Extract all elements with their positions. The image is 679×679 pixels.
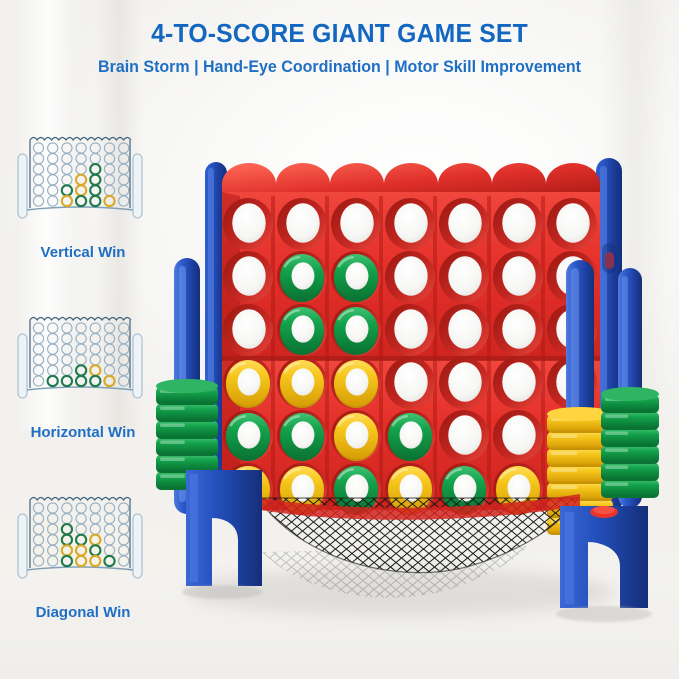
win-card-vertical: Vertical Win [4,116,162,292]
coin-edge [334,362,378,408]
stack-green-coin [601,395,659,411]
yellow-coin [280,466,324,512]
diagram-yellow-token [104,196,114,206]
stack-coin-highlight [160,475,185,479]
yellow-coin [226,466,270,512]
diagram-empty-hole [76,143,86,153]
board-hole-socket [439,357,489,409]
coin-edge [280,468,324,514]
diagram-empty-hole [104,355,114,365]
stack-top-coin [156,379,218,393]
board-empty-hole [502,415,535,455]
stack-yellow-coin [547,483,613,499]
board-hole-socket [493,304,543,356]
diagram-empty-hole [33,323,43,333]
diagram-green-token [76,365,86,375]
board-hole-socket [493,463,543,515]
board-hole-socket [493,410,543,462]
stack-coin-highlight [160,390,185,394]
diagram-empty-hole [33,365,43,375]
diagram-empty-hole [62,143,72,153]
diagram-empty-hole [48,196,58,206]
board-hole-socket [493,198,543,250]
diagram-empty-hole [119,334,129,344]
diagram-empty-hole [33,376,43,386]
coin-edge [226,468,270,514]
diagram-empty-hole [48,164,58,174]
diagram-post-left [18,154,27,218]
board-empty-hole [502,256,535,296]
stack-coin-edge [156,422,218,439]
win-card-horizontal: Horizontal Win [4,296,162,472]
diagram-empty-hole [90,323,100,333]
stack-coin-edge [547,416,613,433]
coin-center-hole [346,262,369,289]
diagram-green-token [90,196,100,206]
coin-center-hole [346,474,369,501]
diagram-empty-hole [119,376,129,386]
horizontal-win-diagram [12,296,154,420]
board-empty-hole [556,415,589,455]
coin-highlight [392,416,407,426]
board-hole-socket [277,463,327,515]
diagram-green-token [90,545,100,555]
diagram-empty-hole [119,535,129,545]
stack-yellow-coin [547,500,613,516]
board-empty-hole [232,203,265,243]
board-empty-hole [394,309,427,349]
board-empty-hole [502,203,535,243]
diagram-empty-hole [104,323,114,333]
diagram-empty-hole [119,355,129,365]
diagram-post-left [18,334,27,398]
coin-highlight [230,363,245,373]
base-leg-left [186,470,262,586]
stack-coin-edge [547,450,613,467]
diagram-post-right [133,334,142,398]
stack-coin-highlight [551,520,577,524]
coin-highlight [338,257,353,267]
board-seam [222,356,600,361]
diagram-empty-hole [90,514,100,524]
coin-edge [388,415,432,461]
diagram-empty-hole [119,514,129,524]
coin-highlight [500,469,515,479]
board-empty-hole [448,415,481,455]
diagram-empty-hole [119,175,129,185]
green-coin [334,307,378,353]
diagram-scalloped-top [30,498,131,501]
diagram-green-token [62,376,72,386]
diagram-empty-hole [48,535,58,545]
coin-edge [442,468,486,514]
frame-post-right-inner [566,260,594,510]
green-coin [388,413,432,459]
board-empty-hole [340,203,373,243]
diagram-post-right [133,514,142,578]
board-empty-hole [556,256,589,296]
red-release-lever [590,506,618,518]
diagram-yellow-token [90,556,100,566]
diagram-empty-hole [104,154,114,164]
board-hole-socket [223,357,273,409]
stack-green-coin [156,438,218,454]
board-empty-hole [556,309,589,349]
stack-coin-edge [547,484,613,501]
board-empty-hole [394,256,427,296]
diagram-empty-hole [33,545,43,555]
coin-center-hole [238,421,261,448]
board-empty-hole [502,309,535,349]
ball-catch-net [250,494,580,598]
coin-center-hole [292,315,315,342]
board-column-dividers [271,196,545,496]
board-empty-hole [556,468,589,508]
coin-edge [280,256,324,302]
stack-green-coin [601,412,659,428]
diagram-green-token [76,196,86,206]
board-empty-hole [502,362,535,402]
win-card-label: Vertical Win [4,244,162,261]
diagram-empty-hole [76,503,86,513]
coin-edge [334,468,378,514]
board-lower-panel [222,360,600,500]
stack-green-coin [156,455,218,471]
diagram-green-token [76,535,86,545]
game-board [222,163,600,515]
diagram-empty-hole [104,143,114,153]
stack-coin-highlight [160,458,185,462]
diagram-empty-hole [62,154,72,164]
board-hole-socket [331,410,381,462]
board-hole-socket [439,410,489,462]
diagram-empty-hole [104,344,114,354]
stack-green-coin [156,404,218,420]
win-card-label: Horizontal Win [4,424,162,441]
diagram-yellow-token [62,196,72,206]
product-image: 4-TO-SCORE GIANT GAME SET Brain Storm | … [0,0,679,679]
board-hole-socket [331,463,381,515]
diagram-green-token [48,376,58,386]
diagram-empty-hole [48,143,58,153]
frame-post-right-outer [618,268,642,508]
frame-post-left [174,258,200,514]
stack-green-coin [156,472,218,488]
diagram-empty-hole [48,175,58,185]
board-hole-socket [547,357,597,409]
diagram-empty-hole [48,514,58,524]
diagram-empty-hole [104,365,114,375]
board-hole-socket [547,304,597,356]
coin-highlight [338,310,353,320]
stack-coin-edge [601,430,659,447]
diagram-empty-hole [48,344,58,354]
stack-coin-highlight [160,424,185,428]
board-hole-socket [439,463,489,515]
coin-center-hole [400,474,423,501]
diagram-empty-hole [76,355,86,365]
board-hole-socket [331,357,381,409]
coin-highlight [230,469,245,479]
stack-coin-highlight [605,449,628,453]
green-coin [280,413,324,459]
green-coin [226,413,270,459]
diagram-yellow-token [76,545,86,555]
diagram-empty-hole [33,524,43,534]
green-coin [280,307,324,353]
coin-center-hole [346,368,369,395]
green-coin [334,466,378,512]
stack-yellow-coin [547,432,613,448]
stack-coin-highlight [551,486,577,490]
stack-green-coin [601,480,659,496]
stack-coin-highlight [605,466,628,470]
stack-coin-edge [156,405,218,422]
red-slider-button [605,252,614,269]
stack-coin-edge [547,467,613,484]
diagram-empty-hole [119,164,129,174]
coin-center-hole [292,474,315,501]
coin-center-hole [292,368,315,395]
coin-highlight [338,363,353,373]
diagram-empty-hole [33,556,43,566]
stack-coin-edge [156,439,218,456]
diagram-empty-hole [33,514,43,524]
board-hole-socket [385,410,435,462]
board-hole-socket [223,198,273,250]
diagram-scalloped-top [30,318,131,321]
stack-green-coin [156,387,218,403]
board-hole-socket [439,304,489,356]
diagram-empty-hole [90,524,100,534]
coin-highlight [284,416,299,426]
frame-rear-uprights [205,158,622,518]
diagram-empty-hole [33,503,43,513]
board-empty-hole [556,362,589,402]
coin-highlight [284,257,299,267]
coin-stacks [156,379,659,535]
diagram-post-left [18,514,27,578]
coin-edge [280,415,324,461]
board-empty-hole [448,203,481,243]
yellow-coin [496,466,540,512]
diagram-post-right [133,154,142,218]
diagram-empty-hole [76,524,86,534]
coin-highlight [338,469,353,479]
coin-edge [334,309,378,355]
diagram-empty-hole [76,514,86,524]
vertical-win-diagram [12,116,154,240]
diagram-empty-hole [104,185,114,195]
win-card-label: Diagonal Win [4,604,162,621]
board-hole-socket [547,251,597,303]
yellow-coin [280,360,324,406]
diagram-empty-hole [119,365,129,375]
coin-highlight [338,416,353,426]
board-hole-socket [385,357,435,409]
board-empty-hole [448,362,481,402]
board-hole-socket [277,410,327,462]
diagram-empty-hole [90,344,100,354]
board-hole-socket [223,251,273,303]
coin-center-hole [292,421,315,448]
green-coin [280,254,324,300]
diagram-empty-hole [48,503,58,513]
board-hole-socket [331,251,381,303]
diagram-empty-hole [62,344,72,354]
board-hole-socket [277,251,327,303]
stack-yellow-coin [547,466,613,482]
board-hole-socket [385,198,435,250]
diagram-empty-hole [104,175,114,185]
board-hole-socket [277,198,327,250]
stack-coin-highlight [551,435,577,439]
header: 4-TO-SCORE GIANT GAME SET Brain Storm | … [0,0,679,77]
coin-edge [226,415,270,461]
diagram-empty-hole [33,143,43,153]
diagram-empty-hole [119,545,129,555]
stack-coin-edge [156,388,218,405]
diagram-yellow-token [90,365,100,375]
diagram-empty-hole [33,334,43,344]
board-empty-hole [232,309,265,349]
diagram-green-token [90,376,100,386]
diagram-empty-hole [62,175,72,185]
board-hole-socket [223,463,273,515]
win-card-diagonal: Diagonal Win [4,476,162,652]
page-title: 4-TO-SCORE GIANT GAME SET [10,20,669,49]
diagram-empty-hole [90,355,100,365]
stack-coin-edge [547,501,613,518]
diagram-yellow-token [76,175,86,185]
diagram-empty-hole [104,524,114,534]
diagram-empty-hole [33,154,43,164]
coin-center-hole [454,474,477,501]
stack-coin-highlight [160,407,185,411]
board-empty-hole [448,309,481,349]
diagram-green-token [62,185,72,195]
board-empty-hole [286,203,319,243]
stack-coin-edge [601,464,659,481]
board-hole-socket [547,463,597,515]
stack-coin-edge [156,456,218,473]
coin-highlight [230,416,245,426]
diagram-green-token [62,524,72,534]
diagram-empty-hole [76,154,86,164]
diagram-empty-hole [76,164,86,174]
diagram-base-bar [26,387,134,390]
diagram-empty-hole [119,143,129,153]
diagram-empty-hole [76,334,86,344]
stack-coin-highlight [605,415,628,419]
diagram-empty-hole [119,196,129,206]
board-empty-hole [448,256,481,296]
board-hole-socket [223,410,273,462]
diagram-yellow-token [62,545,72,555]
board-empty-hole [394,203,427,243]
yellow-coin [226,360,270,406]
coin-edge [334,415,378,461]
diagram-empty-hole [33,344,43,354]
board-hole-socket [439,198,489,250]
board-hole-socket [331,198,381,250]
green-coin [442,466,486,512]
diagram-green-token [62,535,72,545]
diagram-empty-hole [48,365,58,375]
diagram-empty-hole [76,323,86,333]
diagram-empty-hole [33,196,43,206]
diagram-yellow-token [76,185,86,195]
diagram-yellow-token [90,535,100,545]
diagram-empty-hole [48,545,58,555]
board-hole-socket [493,357,543,409]
coin-center-hole [238,368,261,395]
diagram-empty-hole [62,323,72,333]
stack-green-coin [601,446,659,462]
base-leg-right [560,506,648,608]
board-hole-socket [385,251,435,303]
stack-coin-highlight [605,398,628,402]
board-empty-hole [232,256,265,296]
board-bottom-lip [222,496,600,510]
ground-shadow [185,568,615,616]
diagram-empty-hole [119,556,129,566]
stack-coin-highlight [551,452,577,456]
coin-highlight [446,469,461,479]
stack-green-coin [156,421,218,437]
diagram-green-token [90,185,100,195]
stack-yellow-coin [547,449,613,465]
coin-highlight [284,469,299,479]
diagram-yellow-token [104,376,114,386]
diagram-empty-hole [119,185,129,195]
coin-center-hole [292,262,315,289]
coin-highlight [284,310,299,320]
stack-coin-highlight [605,432,628,436]
diagram-empty-hole [90,154,100,164]
diagram-empty-hole [62,355,72,365]
stack-coin-edge [547,433,613,450]
stack-green-coin [601,429,659,445]
diagonal-win-diagram [12,476,154,600]
stack-coin-edge [601,481,659,498]
win-pattern-cards: Vertical Win Horizontal Win Diagonal Win [4,112,162,655]
board-scalloped-top [222,163,600,200]
diagram-green-token [90,175,100,185]
diagram-empty-hole [33,175,43,185]
diagram-empty-hole [62,164,72,174]
yellow-coin [334,360,378,406]
green-coin [334,254,378,300]
coin-edge [280,309,324,355]
coin-edge [280,362,324,408]
yellow-coin [388,466,432,512]
stack-yellow-coin [547,517,613,533]
stack-green-coin [601,463,659,479]
board-empty-hole [556,203,589,243]
diagram-empty-hole [119,503,129,513]
diagram-empty-hole [104,334,114,344]
diagram-empty-hole [104,545,114,555]
board-hole-socket [439,251,489,303]
diagram-empty-hole [90,334,100,344]
diagram-empty-hole [119,154,129,164]
board-hole-socket [385,463,435,515]
stack-coin-edge [601,413,659,430]
board-hole-socket [547,410,597,462]
diagram-empty-hole [33,164,43,174]
diagram-empty-hole [48,524,58,534]
